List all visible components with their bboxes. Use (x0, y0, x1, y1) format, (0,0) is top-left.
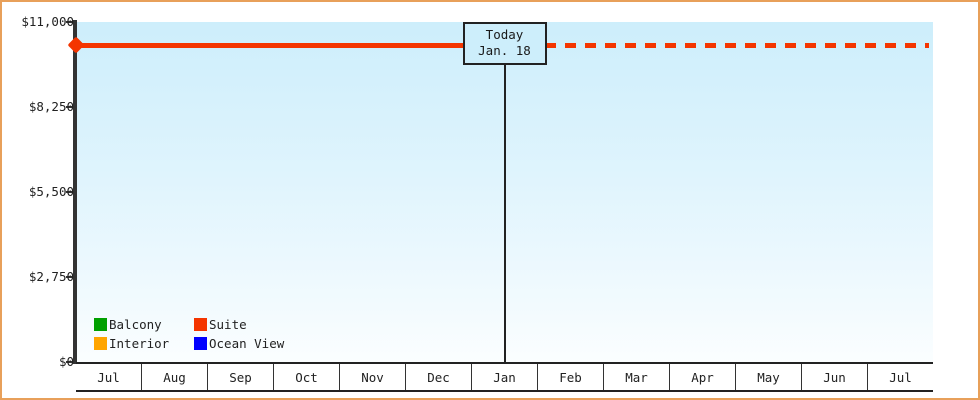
today-tooltip: Today Jan. 18 (463, 22, 547, 65)
series-line-suite-forecast (505, 43, 930, 48)
legend-item-label: Suite (209, 318, 247, 331)
legend-item-label: Ocean View (209, 337, 284, 350)
x-axis-month-cell[interactable]: May (736, 364, 802, 390)
x-axis-month-cell[interactable]: Jul (76, 364, 142, 390)
today-tooltip-line2: Jan. 18 (474, 43, 536, 59)
legend-item[interactable]: Balcony (94, 315, 190, 334)
legend-color-swatch (94, 337, 107, 350)
y-tick-label: $2,750 (10, 269, 74, 284)
x-axis-month-cell[interactable]: Oct (274, 364, 340, 390)
legend-color-swatch (194, 337, 207, 350)
legend-item-label: Interior (109, 337, 169, 350)
legend: BalconySuiteInteriorOcean View (94, 315, 284, 353)
today-tooltip-line1: Today (474, 27, 536, 43)
x-axis-month-cell[interactable]: Dec (406, 364, 472, 390)
x-axis-month-cell[interactable]: Sep (208, 364, 274, 390)
x-axis-month-cell[interactable]: Feb (538, 364, 604, 390)
y-tick-label: $11,000 (10, 14, 74, 29)
x-axis-month-cell[interactable]: Jan (472, 364, 538, 390)
legend-item-label: Balcony (109, 318, 162, 331)
x-axis-month-cell[interactable]: Jul (868, 364, 933, 390)
x-axis-month-cell[interactable]: Nov (340, 364, 406, 390)
today-vertical-line (504, 62, 506, 362)
y-tick-label: $5,500 (10, 184, 74, 199)
legend-item[interactable]: Suite (194, 315, 284, 334)
x-axis-month-cell[interactable]: Aug (142, 364, 208, 390)
series-line-suite-actual (76, 43, 505, 48)
x-axis-month-band: JulAugSepOctNovDecJanFebMarAprMayJunJul (76, 362, 933, 392)
legend-item[interactable]: Ocean View (194, 334, 284, 353)
y-tick-label: $0 (10, 354, 74, 369)
x-axis-month-cell[interactable]: Jun (802, 364, 868, 390)
legend-item[interactable]: Interior (94, 334, 190, 353)
legend-color-swatch (194, 318, 207, 331)
y-tick-label: $8,250 (10, 99, 74, 114)
legend-color-swatch (94, 318, 107, 331)
x-axis-month-cell[interactable]: Mar (604, 364, 670, 390)
price-forecast-chart: $0$2,750$5,500$8,250$11,000 Today Jan. 1… (0, 0, 980, 400)
x-axis-month-cell[interactable]: Apr (670, 364, 736, 390)
